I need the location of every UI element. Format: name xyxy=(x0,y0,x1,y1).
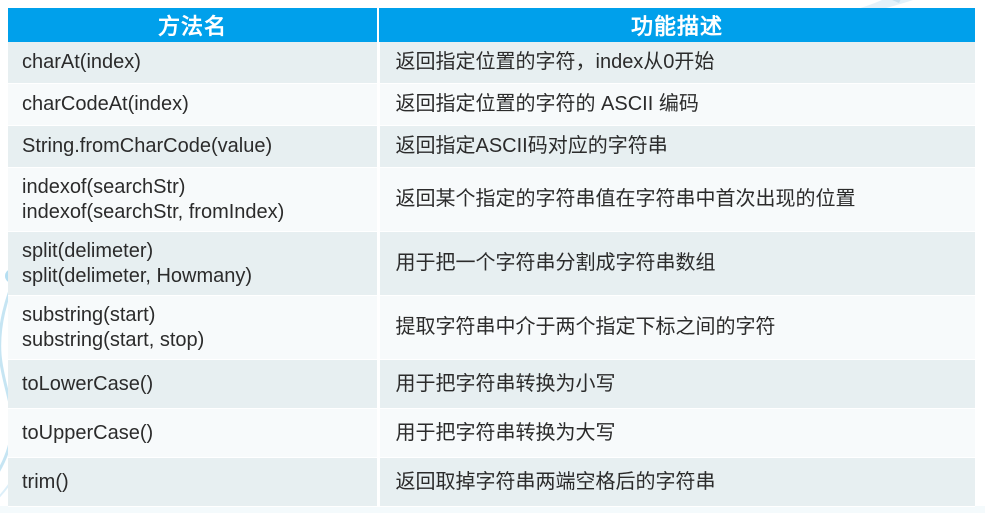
method-signature-line: split(delimeter, Howmany) xyxy=(22,264,377,288)
table-row: trim() 返回取掉字符串两端空格后的字符串 xyxy=(8,458,975,507)
method-signature-line: trim() xyxy=(22,470,377,494)
method-signature-line: substring(start, stop) xyxy=(22,328,377,352)
table-row: charAt(index) 返回指定位置的字符，index从0开始 xyxy=(8,42,975,84)
table-row: toLowerCase() 用于把字符串转换为小写 xyxy=(8,360,975,409)
method-description-cell: 用于把字符串转换为小写 xyxy=(378,360,975,409)
method-signature-line: charAt(index) xyxy=(22,50,377,74)
method-signature-line: toUpperCase() xyxy=(22,421,377,445)
method-signature-cell: substring(start) substring(start, stop) xyxy=(8,296,378,360)
table-row: toUpperCase() 用于把字符串转换为大写 xyxy=(8,409,975,458)
table-row: split(delimeter) split(delimeter, Howman… xyxy=(8,232,975,296)
string-methods-table-container: 方法名 功能描述 charAt(index) 返回指定位置的字符，index从0… xyxy=(8,8,975,507)
method-signature-cell: toUpperCase() xyxy=(8,409,378,458)
method-description-cell: 返回指定ASCII码对应的字符串 xyxy=(378,126,975,168)
method-signature-cell: String.fromCharCode(value) xyxy=(8,126,378,168)
method-description-cell: 返回取掉字符串两端空格后的字符串 xyxy=(378,458,975,507)
method-signature-line: split(delimeter) xyxy=(22,239,377,263)
method-signature-line: indexof(searchStr, fromIndex) xyxy=(22,200,377,224)
method-signature-cell: charCodeAt(index) xyxy=(8,84,378,126)
watermark-bottom-strip xyxy=(0,506,985,513)
table-row: String.fromCharCode(value) 返回指定ASCII码对应的… xyxy=(8,126,975,168)
method-description-cell: 提取字符串中介于两个指定下标之间的字符 xyxy=(378,296,975,360)
table-header-row: 方法名 功能描述 xyxy=(8,8,975,42)
method-signature-cell: trim() xyxy=(8,458,378,507)
table-row: charCodeAt(index) 返回指定位置的字符的 ASCII 编码 xyxy=(8,84,975,126)
method-signature-cell: split(delimeter) split(delimeter, Howman… xyxy=(8,232,378,296)
method-description-cell: 返回指定位置的字符，index从0开始 xyxy=(378,42,975,84)
method-description-cell: 返回某个指定的字符串值在字符串中首次出现的位置 xyxy=(378,168,975,232)
string-methods-table: 方法名 功能描述 charAt(index) 返回指定位置的字符，index从0… xyxy=(8,8,975,507)
column-header-method: 方法名 xyxy=(8,8,378,42)
method-signature-cell: indexof(searchStr) indexof(searchStr, fr… xyxy=(8,168,378,232)
method-signature-line: toLowerCase() xyxy=(22,372,377,396)
column-header-description: 功能描述 xyxy=(378,8,975,42)
method-signature-line: charCodeAt(index) xyxy=(22,92,377,116)
table-body: charAt(index) 返回指定位置的字符，index从0开始 charCo… xyxy=(8,42,975,507)
method-signature-cell: charAt(index) xyxy=(8,42,378,84)
method-signature-line: substring(start) xyxy=(22,303,377,327)
method-signature-cell: toLowerCase() xyxy=(8,360,378,409)
table-row: substring(start) substring(start, stop) … xyxy=(8,296,975,360)
method-description-cell: 用于把字符串转换为大写 xyxy=(378,409,975,458)
method-signature-line: indexof(searchStr) xyxy=(22,175,377,199)
method-description-cell: 用于把一个字符串分割成字符串数组 xyxy=(378,232,975,296)
method-signature-line: String.fromCharCode(value) xyxy=(22,134,377,158)
table-row: indexof(searchStr) indexof(searchStr, fr… xyxy=(8,168,975,232)
method-description-cell: 返回指定位置的字符的 ASCII 编码 xyxy=(378,84,975,126)
table-header: 方法名 功能描述 xyxy=(8,8,975,42)
